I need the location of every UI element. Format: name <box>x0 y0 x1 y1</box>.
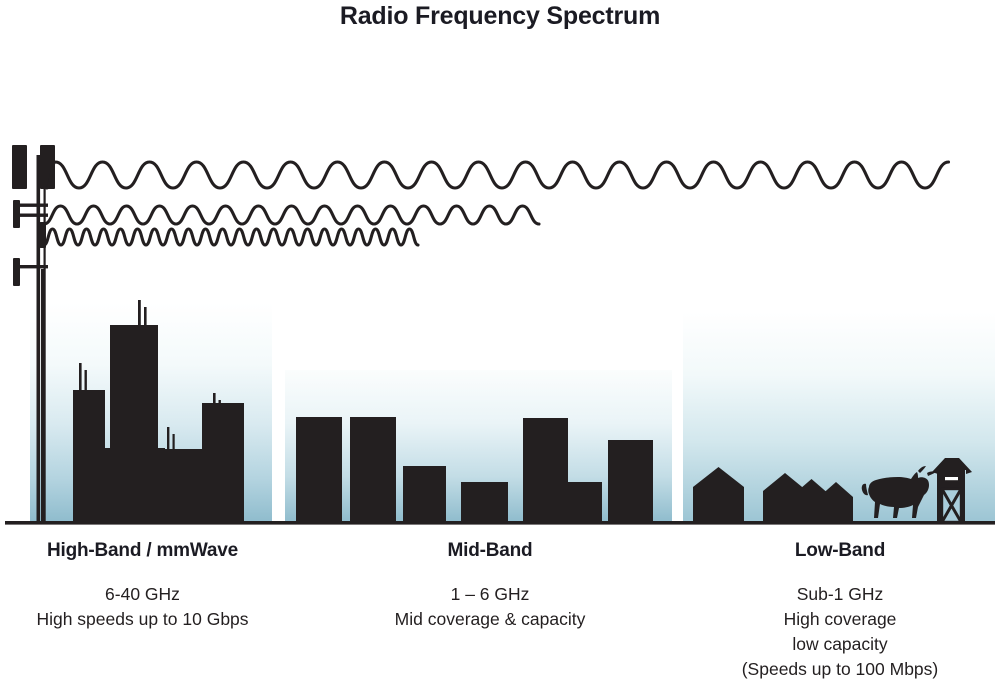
building <box>461 482 508 522</box>
band-labels: High-Band / mmWave 6-40 GHz High speeds … <box>0 540 1000 700</box>
band-title-high-band: High-Band / mmWave <box>0 540 285 562</box>
band-column-mid-band: Mid-Band 1 – 6 GHz Mid coverage & capaci… <box>345 540 635 632</box>
band-title-mid-band: Mid-Band <box>345 540 635 562</box>
mid-band-wave <box>44 206 539 224</box>
building <box>202 403 244 522</box>
building <box>350 417 396 522</box>
band-frequency-low-band: Sub-1 GHz <box>690 582 990 607</box>
band-frequency-high-band: 6-40 GHz <box>0 582 285 607</box>
tower-mast-left <box>37 155 41 522</box>
band-extra-low-band-2: (Speeds up to 100 Mbps) <box>690 657 990 682</box>
building <box>110 325 158 522</box>
ground-line <box>5 521 995 525</box>
building-spire <box>173 434 175 449</box>
low-band-wave <box>47 162 949 188</box>
building <box>523 418 568 522</box>
building <box>158 448 165 522</box>
building <box>296 417 342 522</box>
barn-loft-vent <box>945 477 958 480</box>
band-extra-low-band-1: low capacity <box>690 632 990 657</box>
tower-antenna-panel-5 <box>13 258 20 286</box>
building-spire <box>144 307 147 325</box>
band-title-low-band: Low-Band <box>690 540 990 562</box>
band-description-low-band: High coverage <box>690 607 990 632</box>
tower-mast-stub <box>41 269 44 522</box>
building-spire <box>138 300 141 325</box>
infographic-canvas: Radio Frequency Spectrum <box>0 0 1000 700</box>
tower-antenna-panel-1 <box>12 145 27 189</box>
building <box>608 440 653 522</box>
building <box>568 482 602 522</box>
high-band-wave <box>44 229 418 245</box>
tower-antenna-panel-3 <box>13 200 20 228</box>
band-column-high-band: High-Band / mmWave 6-40 GHz High speeds … <box>0 540 285 632</box>
band-frequency-mid-band: 1 – 6 GHz <box>345 582 635 607</box>
building <box>403 466 446 522</box>
band-description-high-band: High speeds up to 10 Gbps <box>0 607 285 632</box>
band-description-mid-band: Mid coverage & capacity <box>345 607 635 632</box>
band-column-low-band: Low-Band Sub-1 GHz High coverage low cap… <box>690 540 990 681</box>
building <box>165 449 206 522</box>
building <box>73 390 105 522</box>
building-spire <box>167 427 169 449</box>
